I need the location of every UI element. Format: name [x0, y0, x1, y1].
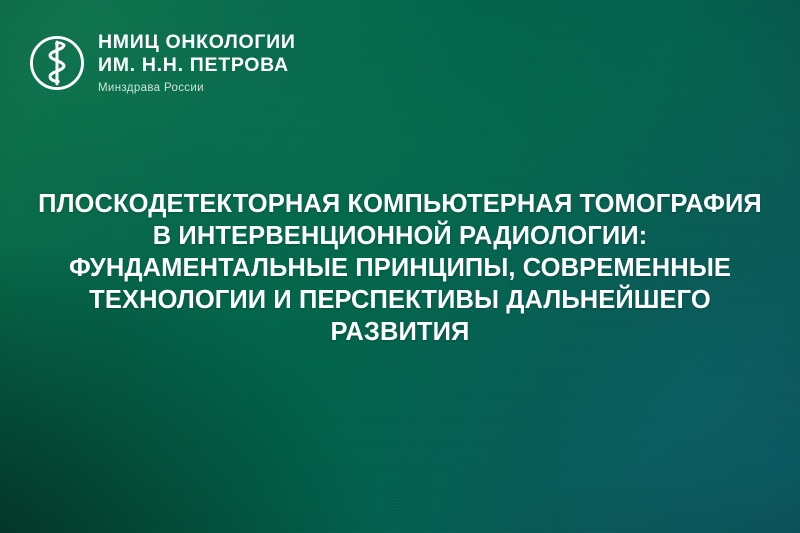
logo-line-1: НМИЦ ОНКОЛОГИИ — [98, 31, 296, 54]
institution-logo: НМИЦ ОНКОЛОГИИ ИМ. Н.Н. ПЕТРОВА Минздрав… — [28, 30, 296, 96]
title-line: ФУНДАМЕНТАЛЬНЫЕ ПРИНЦИПЫ, СОВРЕМЕННЫЕ — [34, 252, 766, 284]
title-line: ПЛОСКОДЕТЕКТОРНАЯ КОМПЬЮТЕРНАЯ ТОМОГРАФИ… — [34, 188, 766, 220]
title-line: ТЕХНОЛОГИИ И ПЕРСПЕКТИВЫ ДАЛЬНЕЙШЕГО — [34, 284, 766, 316]
title-line: В ИНТЕРВЕНЦИОННОЙ РАДИОЛОГИИ: — [34, 220, 766, 252]
asclepius-rod-circle-icon — [28, 34, 86, 92]
title-line: РАЗВИТИЯ — [34, 316, 766, 348]
logo-subtitle: Минздрава России — [98, 80, 296, 96]
title-slide: НМИЦ ОНКОЛОГИИ ИМ. Н.Н. ПЕТРОВА Минздрав… — [0, 0, 800, 533]
page-title: ПЛОСКОДЕТЕКТОРНАЯ КОМПЬЮТЕРНАЯ ТОМОГРАФИ… — [0, 188, 800, 348]
logo-line-2: ИМ. Н.Н. ПЕТРОВА — [98, 54, 296, 77]
logo-text-block: НМИЦ ОНКОЛОГИИ ИМ. Н.Н. ПЕТРОВА Минздрав… — [98, 30, 296, 96]
